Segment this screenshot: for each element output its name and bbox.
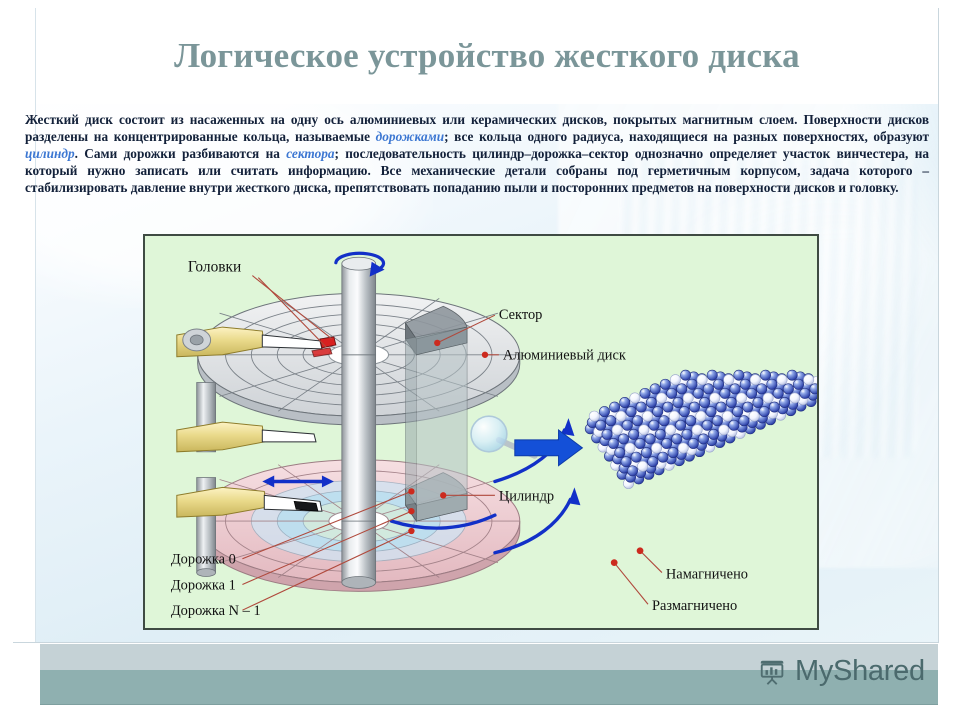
- domain-bead-magnetized: [636, 402, 646, 412]
- callout-track-1: Дорожка 1: [171, 577, 236, 593]
- magnetic-domain-lattice: [585, 370, 817, 489]
- body-text-run: ; все кольца одного радиуса, находящиеся…: [444, 129, 929, 144]
- domain-bead-magnetized: [622, 420, 632, 430]
- domain-bead-magnetized: [743, 402, 753, 412]
- domain-bead-magnetized: [730, 384, 740, 394]
- body-keyword: дорожками: [376, 129, 444, 144]
- domain-bead-magnetized: [712, 416, 722, 426]
- lower-head-arm: [177, 422, 316, 452]
- domain-bead-magnetized: [682, 429, 692, 439]
- domain-bead-magnetized: [668, 447, 678, 457]
- domain-bead-demagnetized: [651, 443, 661, 453]
- domain-bead-magnetized: [793, 379, 803, 389]
- domain-bead-magnetized: [626, 406, 636, 416]
- domain-bead-magnetized: [621, 457, 631, 467]
- domain-bead-demagnetized: [696, 411, 706, 421]
- domain-bead-magnetized: [679, 406, 689, 416]
- domain-bead-magnetized: [596, 420, 606, 430]
- domain-bead-magnetized: [703, 384, 713, 394]
- body-paragraph: Жесткий диск состоит из насаженных на од…: [25, 111, 929, 196]
- domain-bead-magnetized: [687, 379, 697, 389]
- domain-bead-magnetized: [663, 402, 673, 412]
- body-text-block: Жесткий диск состоит из насаженных на од…: [25, 111, 929, 196]
- domain-bead-demagnetized: [642, 411, 652, 421]
- domain-bead-magnetized: [631, 452, 641, 462]
- rotation-arrowhead-2: [568, 487, 580, 505]
- domain-bead-magnetized: [698, 434, 708, 444]
- domain-bead-demagnetized: [697, 375, 707, 385]
- domain-bead-magnetized: [767, 379, 777, 389]
- domain-bead-magnetized: [733, 406, 743, 416]
- domain-bead-magnetized: [648, 457, 658, 467]
- domain-bead-magnetized: [689, 402, 699, 412]
- domain-bead-magnetized: [620, 397, 630, 407]
- domain-bead-magnetized: [720, 388, 730, 398]
- presentation-chart-icon: [758, 657, 788, 687]
- domain-bead-magnetized: [608, 438, 618, 448]
- domain-bead-magnetized: [653, 406, 663, 416]
- domain-bead-demagnetized: [665, 425, 675, 435]
- callout-demagnetized: Размагничено: [652, 598, 737, 614]
- body-keyword: цилиндр: [25, 146, 75, 161]
- domain-bead-demagnetized: [678, 443, 688, 453]
- callout-sector: Сектор: [499, 307, 542, 323]
- domain-bead-demagnetized: [656, 393, 666, 403]
- domain-bead-magnetized: [602, 429, 612, 439]
- domain-bead-magnetized: [734, 370, 744, 380]
- domain-bead-magnetized: [662, 438, 672, 448]
- domain-bead-demagnetized: [724, 375, 734, 385]
- domain-bead-magnetized: [686, 416, 696, 426]
- domain-bead-magnetized: [800, 388, 810, 398]
- domain-bead-demagnetized: [750, 375, 760, 385]
- domain-bead-magnetized: [769, 402, 779, 412]
- domain-bead-demagnetized: [736, 393, 746, 403]
- body-keyword: сектора: [286, 146, 334, 161]
- left-margin-strip: [13, 8, 36, 642]
- domain-bead-demagnetized: [803, 375, 813, 385]
- page-title: Логическое устройство жесткого диска: [174, 36, 800, 76]
- domain-bead-magnetized: [606, 416, 616, 426]
- domain-bead-magnetized: [677, 384, 687, 394]
- domain-bead-demagnetized: [719, 425, 729, 435]
- domain-bead-magnetized: [673, 397, 683, 407]
- domain-bead-magnetized: [666, 388, 676, 398]
- rotation-arrowhead-1: [563, 418, 575, 436]
- domain-bead-demagnetized: [669, 411, 679, 421]
- domain-bead-magnetized: [810, 384, 817, 394]
- domain-bead-magnetized: [693, 388, 703, 398]
- domain-bead-magnetized: [675, 420, 685, 430]
- domain-bead-magnetized: [658, 452, 668, 462]
- title-band: Логическое устройство жесткого диска: [36, 8, 938, 104]
- domain-bead-magnetized: [787, 370, 797, 380]
- domain-bead-demagnetized: [639, 425, 649, 435]
- myshared-watermark: MyShared: [758, 655, 925, 688]
- callout-heads: Головки: [188, 259, 241, 276]
- domain-bead-magnetized: [655, 429, 665, 439]
- callout-track-n: Дорожка N – 1: [171, 603, 261, 619]
- domain-bead-magnetized: [702, 420, 712, 430]
- domain-bead-magnetized: [779, 397, 789, 407]
- slide-surface: Логическое устройство жесткого диска Жес…: [13, 8, 939, 643]
- domain-bead-magnetized: [680, 370, 690, 380]
- domain-bead-magnetized: [659, 416, 669, 426]
- hard-disk-diagram: Головки Сектор Алюминиевый диск Цилиндр …: [143, 234, 819, 630]
- domain-bead-magnetized: [640, 388, 650, 398]
- domain-bead-magnetized: [746, 388, 756, 398]
- domain-bead-magnetized: [716, 402, 726, 412]
- domain-bead-magnetized: [646, 397, 656, 407]
- domain-bead-magnetized: [688, 438, 698, 448]
- domain-bead-magnetized: [615, 447, 625, 457]
- domain-bead-magnetized: [759, 406, 769, 416]
- watermark-label: MyShared: [795, 655, 925, 688]
- domain-bead-magnetized: [753, 397, 763, 407]
- callout-track-0: Дорожка 0: [171, 552, 236, 568]
- callout-cylinder: Цилиндр: [499, 488, 554, 504]
- domain-bead-demagnetized: [763, 393, 773, 403]
- domain-bead-magnetized: [641, 447, 651, 457]
- domain-bead-demagnetized: [670, 375, 680, 385]
- domain-bead-demagnetized: [790, 393, 800, 403]
- domain-bead-demagnetized: [630, 393, 640, 403]
- domain-bead-demagnetized: [722, 411, 732, 421]
- domain-bead-demagnetized: [616, 411, 626, 421]
- domain-bead-magnetized: [650, 384, 660, 394]
- domain-bead-magnetized: [635, 438, 645, 448]
- domain-bead-magnetized: [645, 434, 655, 444]
- domain-bead-demagnetized: [710, 393, 720, 403]
- domain-bead-magnetized: [773, 388, 783, 398]
- cylinder-highlight: [405, 327, 467, 521]
- domain-bead-magnetized: [627, 466, 637, 476]
- domain-bead-magnetized: [740, 379, 750, 389]
- domain-bead-magnetized: [707, 370, 717, 380]
- domain-bead-magnetized: [783, 384, 793, 394]
- slide-root: Логическое устройство жесткого диска Жес…: [0, 0, 960, 720]
- domain-bead-demagnetized: [612, 425, 622, 435]
- domain-bead-demagnetized: [589, 411, 599, 421]
- domain-bead-magnetized: [757, 384, 767, 394]
- domain-bead-magnetized: [708, 429, 718, 439]
- domain-bead-magnetized: [760, 370, 770, 380]
- domain-bead-magnetized: [618, 434, 628, 444]
- domain-bead-magnetized: [713, 379, 723, 389]
- domain-bead-demagnetized: [692, 425, 702, 435]
- domain-bead-magnetized: [609, 402, 619, 412]
- domain-bead-demagnetized: [637, 461, 647, 471]
- domain-bead-magnetized: [706, 406, 716, 416]
- domain-bead-magnetized: [629, 429, 639, 439]
- domain-bead-demagnetized: [749, 411, 759, 421]
- domain-bead-magnetized: [599, 406, 609, 416]
- domain-bead-demagnetized: [683, 393, 693, 403]
- domain-bead-magnetized: [649, 420, 659, 430]
- body-text-run: . Сами дорожки разбиваются на: [75, 146, 287, 161]
- callout-magnetized: Намагничено: [666, 567, 748, 583]
- domain-bead-magnetized: [699, 397, 709, 407]
- domain-bead-magnetized: [726, 397, 736, 407]
- domain-bead-magnetized: [739, 416, 749, 426]
- domain-bead-magnetized: [729, 420, 739, 430]
- domain-bead-magnetized: [672, 434, 682, 444]
- hard-disk-diagram-svg: Головки Сектор Алюминиевый диск Цилиндр …: [145, 236, 817, 628]
- domain-bead-magnetized: [632, 416, 642, 426]
- callout-aluminium-disk: Алюминиевый диск: [503, 348, 626, 364]
- domain-bead-demagnetized: [625, 443, 635, 453]
- domain-bead-magnetized: [660, 379, 670, 389]
- domain-bead-demagnetized: [777, 375, 787, 385]
